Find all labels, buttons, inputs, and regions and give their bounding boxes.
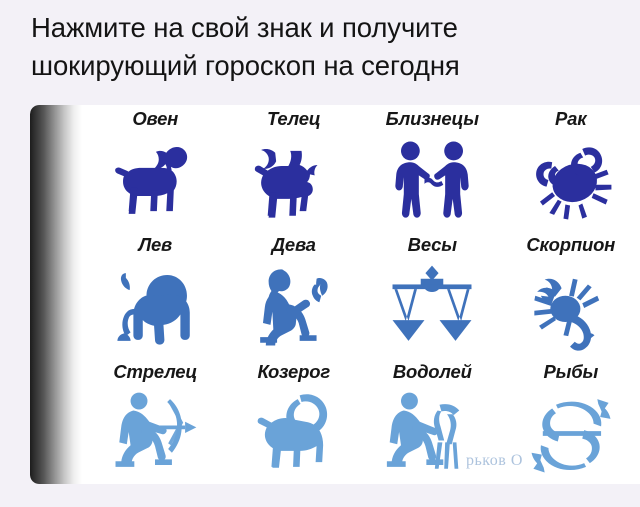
zodiac-cell-libra[interactable]: Весы bbox=[363, 231, 502, 357]
zodiac-chart-image: Овен Телец bbox=[30, 105, 640, 484]
zodiac-label-sagittarius: Стрелец bbox=[113, 361, 197, 383]
pisces-fish-icon bbox=[502, 383, 640, 484]
zodiac-cell-virgo[interactable]: Дева bbox=[225, 231, 364, 357]
zodiac-cell-aquarius[interactable]: Водолей bbox=[363, 358, 502, 484]
leo-lion-icon bbox=[86, 256, 225, 357]
zodiac-label-gemini: Близнецы bbox=[386, 108, 479, 130]
taurus-bull-icon bbox=[225, 130, 364, 231]
zodiac-cell-aries[interactable]: Овен bbox=[86, 105, 225, 231]
zodiac-cell-pisces[interactable]: Рыбы bbox=[502, 358, 640, 484]
aries-ram-icon bbox=[86, 130, 225, 231]
zodiac-cell-scorpio[interactable]: Скорпион bbox=[502, 231, 640, 357]
virgo-maiden-icon bbox=[225, 256, 364, 357]
caption-line-2: шокирующий гороскоп на сегодня bbox=[31, 47, 620, 85]
zodiac-label-capricorn: Козерог bbox=[257, 361, 330, 383]
zodiac-cell-gemini[interactable]: Близнецы bbox=[363, 105, 502, 231]
zodiac-cell-capricorn[interactable]: Козерог bbox=[225, 358, 364, 484]
zodiac-label-scorpio: Скорпион bbox=[526, 234, 615, 256]
zodiac-label-libra: Весы bbox=[408, 234, 457, 256]
caption-line-1: Нажмите на свой знак и получите bbox=[31, 9, 620, 47]
page-spine-shadow bbox=[30, 105, 82, 484]
gemini-twins-icon bbox=[363, 130, 502, 231]
zodiac-cell-taurus[interactable]: Телец bbox=[225, 105, 364, 231]
zodiac-label-virgo: Дева bbox=[272, 234, 316, 256]
zodiac-grid: Овен Телец bbox=[86, 105, 640, 484]
zodiac-label-cancer: Рак bbox=[555, 108, 586, 130]
zodiac-label-aquarius: Водолей bbox=[393, 361, 472, 383]
sagittarius-archer-icon bbox=[86, 383, 225, 484]
zodiac-label-taurus: Телец bbox=[267, 108, 321, 130]
capricorn-goat-icon bbox=[225, 383, 364, 484]
zodiac-cell-cancer[interactable]: Рак bbox=[502, 105, 640, 231]
zodiac-label-aries: Овен bbox=[132, 108, 178, 130]
caption-block: Нажмите на свой знак и получите шокирующ… bbox=[0, 0, 640, 105]
zodiac-cell-sagittarius[interactable]: Стрелец bbox=[86, 358, 225, 484]
libra-scales-icon bbox=[363, 256, 502, 357]
zodiac-label-leo: Лев bbox=[138, 234, 172, 256]
cancer-crab-icon bbox=[502, 130, 640, 231]
zodiac-cell-leo[interactable]: Лев bbox=[86, 231, 225, 357]
aquarius-waterbearer-icon bbox=[363, 383, 502, 484]
scorpio-scorpion-icon bbox=[502, 256, 640, 357]
zodiac-label-pisces: Рыбы bbox=[543, 361, 598, 383]
